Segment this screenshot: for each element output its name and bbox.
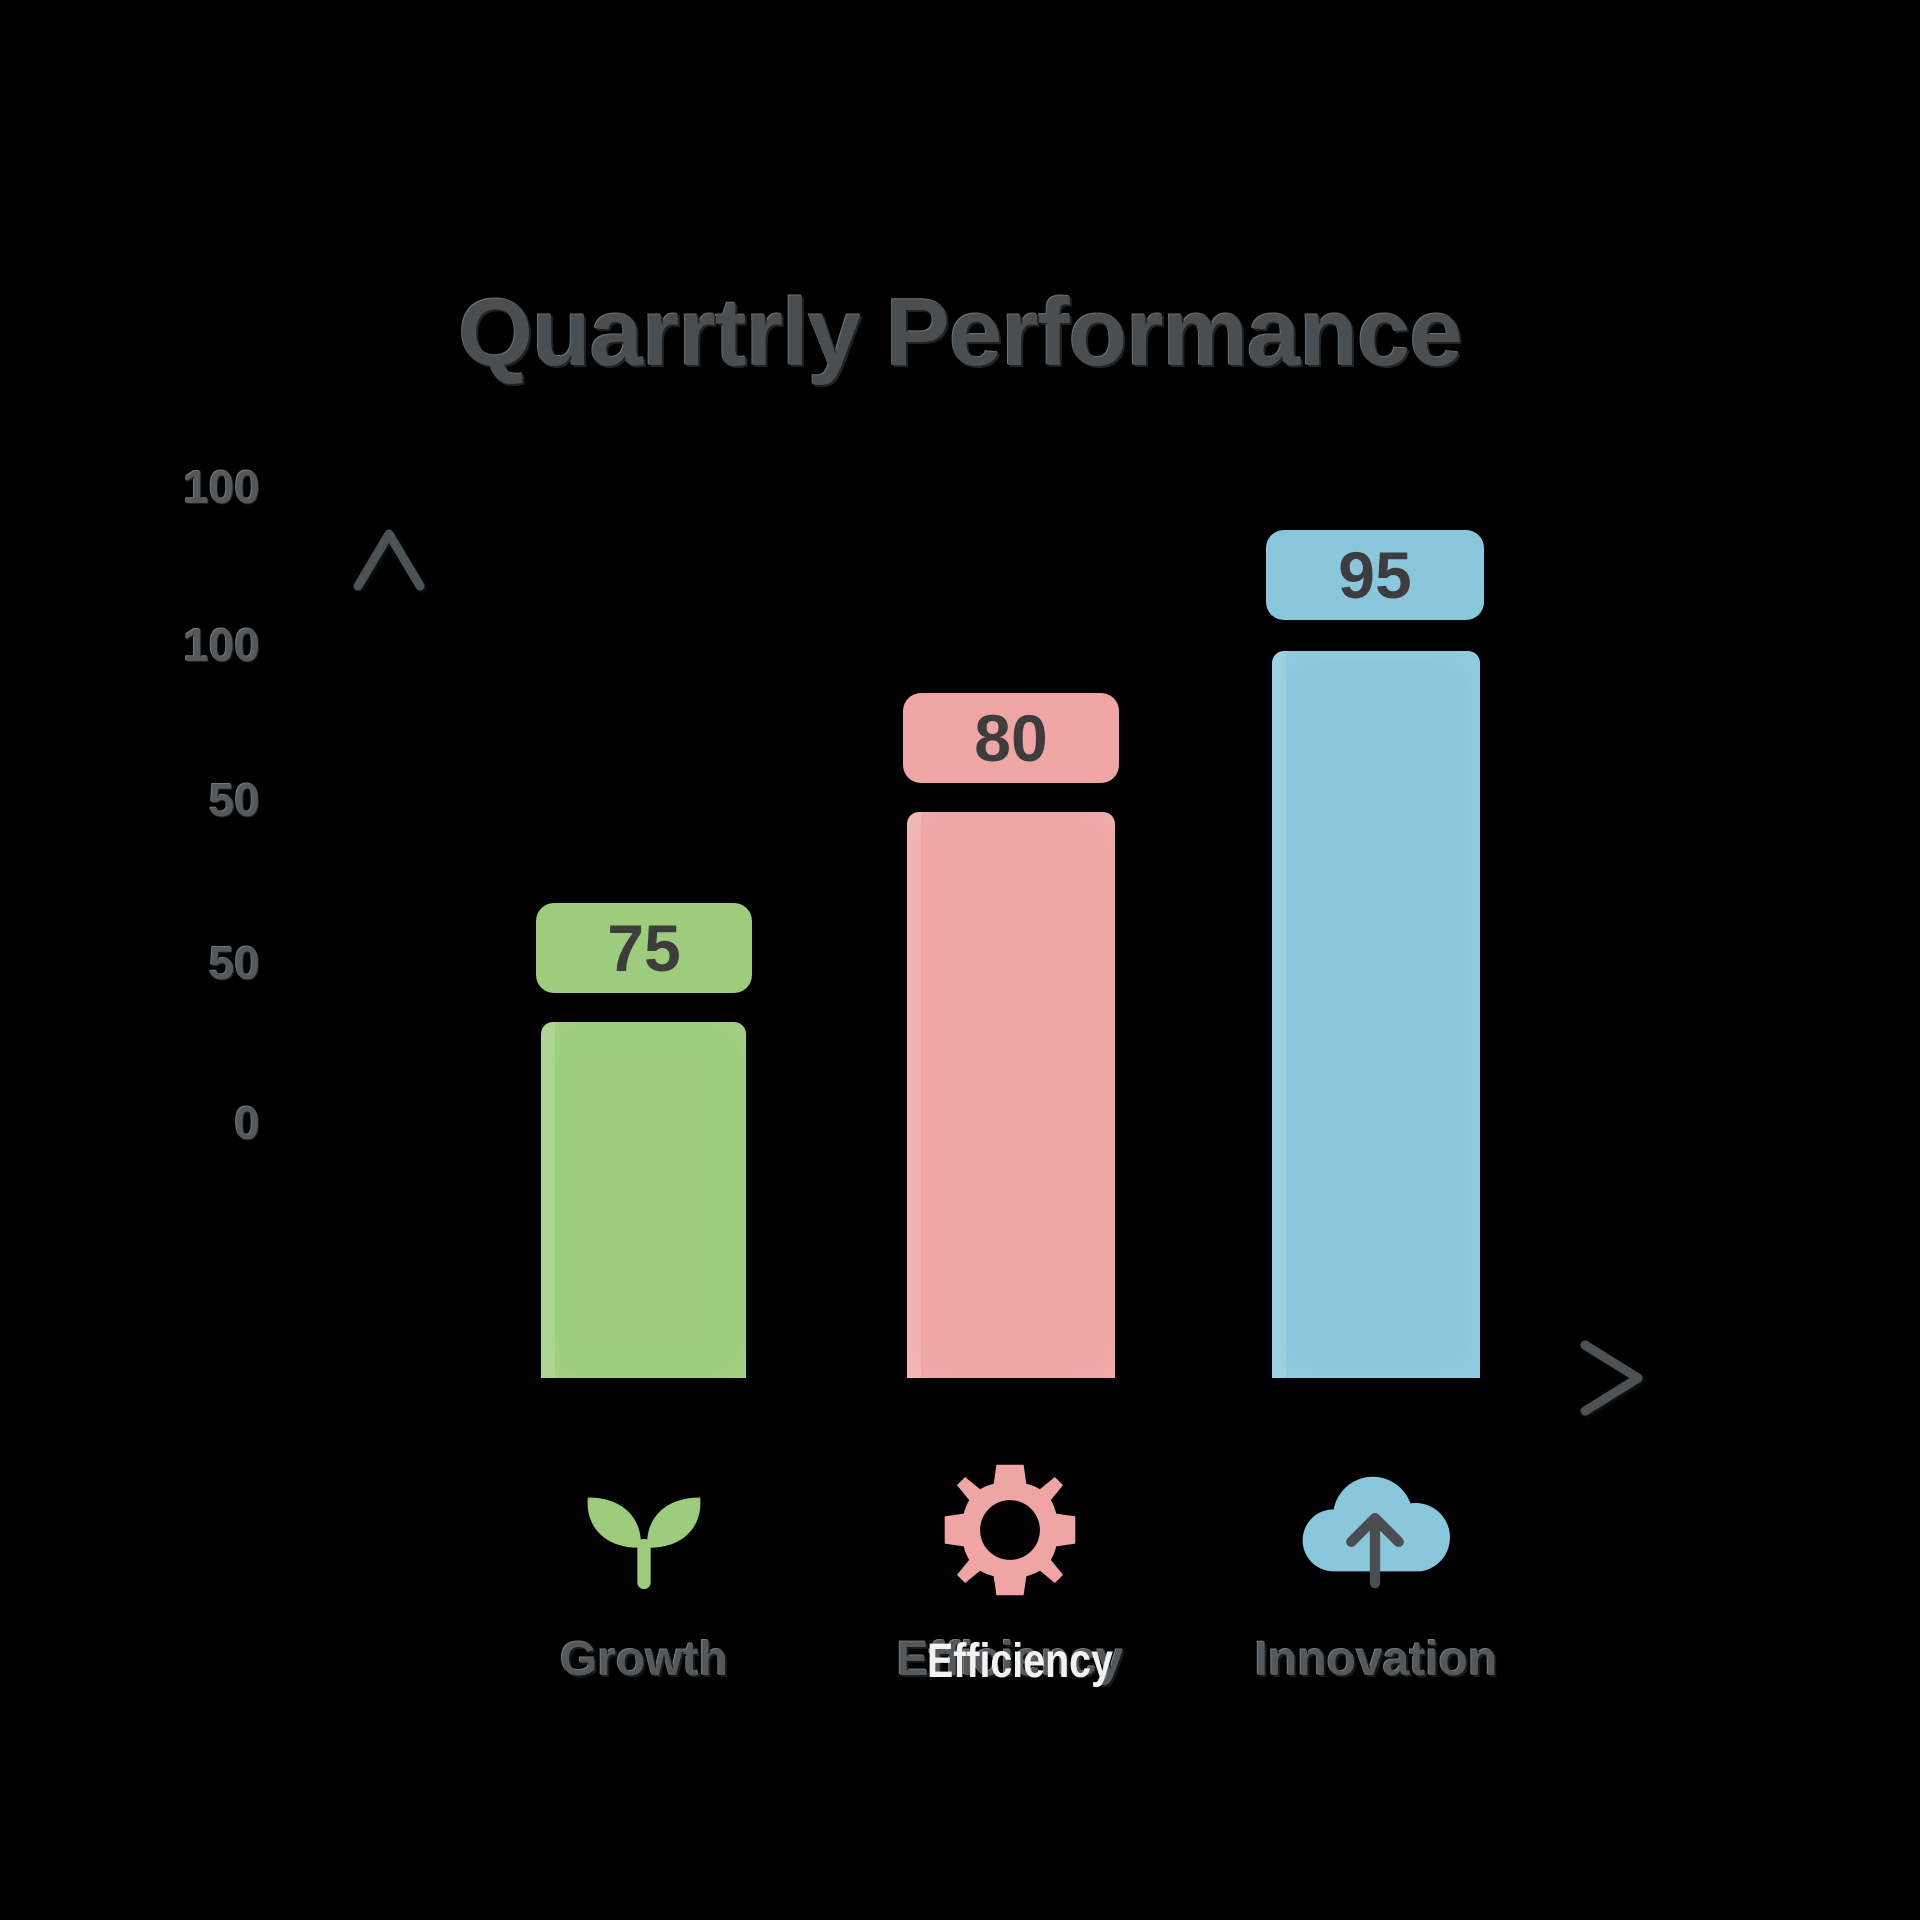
value-badge-growth: 75	[536, 903, 752, 993]
category-label-growth: Growth	[444, 1632, 844, 1687]
value-label-innovation: 95	[1338, 537, 1411, 613]
bar-efficiency[interactable]	[907, 812, 1115, 1378]
chart-canvas: Quarrtrly Performance 100 100 50 50 0	[0, 0, 1920, 1920]
value-label-growth: 75	[607, 910, 680, 986]
bar-highlight	[541, 1022, 555, 1378]
gear-icon	[925, 1460, 1095, 1600]
category-label-innovation: Innovation	[1176, 1632, 1576, 1687]
category-label-efficiency: Efficiency	[810, 1632, 1210, 1687]
y-axis-tick-label-3: 50	[130, 936, 260, 990]
bar-highlight	[1272, 651, 1286, 1378]
bar-innovation[interactable]	[1272, 651, 1480, 1378]
value-badge-innovation: 95	[1266, 530, 1484, 620]
y-axis-tick-label-1: 100	[130, 618, 260, 672]
x-axis-arrowhead	[1585, 1345, 1638, 1411]
bar-growth[interactable]	[541, 1022, 746, 1378]
bar-highlight	[907, 812, 921, 1378]
cloud-upload-icon	[1290, 1460, 1460, 1600]
plot-area: 100 100 50 50 0 75 80 95	[0, 0, 1920, 1920]
y-axis-tick-label-4: 0	[130, 1096, 260, 1150]
y-axis-tick-label-2: 50	[130, 773, 260, 827]
y-axis-tick-label-0: 100	[130, 460, 260, 514]
sprout-icon	[559, 1460, 729, 1600]
value-badge-efficiency: 80	[903, 693, 1119, 783]
y-axis-arrowhead	[358, 534, 420, 586]
value-label-efficiency: 80	[974, 700, 1047, 776]
